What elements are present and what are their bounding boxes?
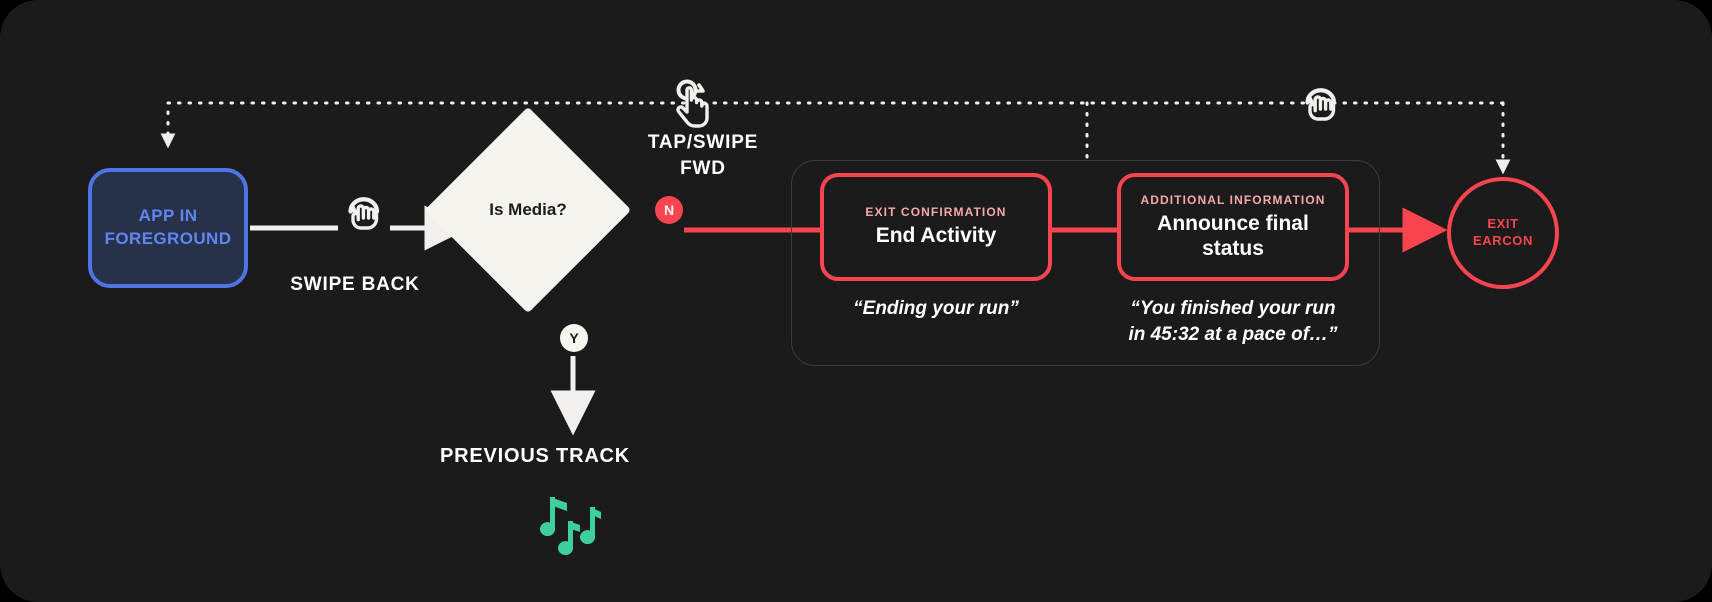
- music-notes-icon: [535, 495, 607, 564]
- additional-information-caption-line2: in 45:32 at a pace of…”: [1128, 324, 1337, 345]
- label-swipe-back: SWIPE BACK: [255, 274, 455, 296]
- label-previous-track: PREVIOUS TRACK: [410, 445, 660, 468]
- node-decision-is-media[interactable]: Is Media?: [455, 137, 601, 283]
- badge-branch-yes: Y: [560, 324, 588, 352]
- node-app-in-foreground[interactable]: APP IN FOREGROUND: [88, 168, 248, 288]
- exit-confirmation-title: End Activity: [876, 223, 997, 248]
- badge-branch-no: N: [655, 196, 683, 224]
- node-exit-confirmation[interactable]: EXIT CONFIRMATION End Activity: [820, 173, 1052, 281]
- node-exit-earcon[interactable]: EXIT EARCON: [1447, 177, 1559, 289]
- additional-information-eyebrow: ADDITIONAL INFORMATION: [1140, 193, 1325, 207]
- additional-information-title-line1: Announce final: [1157, 212, 1309, 235]
- additional-information-title: Announce final status: [1157, 211, 1309, 261]
- exit-earcon-line1: EXIT: [1487, 216, 1518, 231]
- node-app-in-foreground-label: APP IN FOREGROUND: [105, 205, 232, 251]
- decision-label: Is Media?: [455, 137, 601, 283]
- tap-swipe-line2: FWD: [680, 158, 726, 179]
- exit-confirmation-caption: “Ending your run”: [820, 296, 1052, 322]
- tap-swipe-line1: TAP/SWIPE: [648, 132, 758, 153]
- additional-information-caption: “You finished your run in 45:32 at a pac…: [1117, 296, 1349, 347]
- additional-information-title-line2: status: [1202, 237, 1264, 260]
- label-tap-swipe-fwd: TAP/SWIPE FWD: [608, 130, 798, 181]
- swipe-back-gesture-icon-top-right: [1297, 83, 1345, 136]
- exit-confirmation-eyebrow: EXIT CONFIRMATION: [865, 205, 1006, 219]
- swipe-back-gesture-icon: [340, 192, 388, 245]
- tap-swipe-forward-gesture-icon: [665, 78, 711, 137]
- additional-information-caption-line1: “You finished your run: [1130, 298, 1335, 319]
- exit-earcon-line2: EARCON: [1473, 233, 1533, 248]
- node-additional-information[interactable]: ADDITIONAL INFORMATION Announce final st…: [1117, 173, 1349, 281]
- flow-diagram-canvas: APP IN FOREGROUND SWIPE BACK Is Media? N…: [0, 0, 1712, 602]
- app-label-line2: FOREGROUND: [105, 229, 232, 248]
- exit-earcon-label: EXIT EARCON: [1473, 216, 1533, 250]
- app-label-line1: APP IN: [139, 206, 198, 225]
